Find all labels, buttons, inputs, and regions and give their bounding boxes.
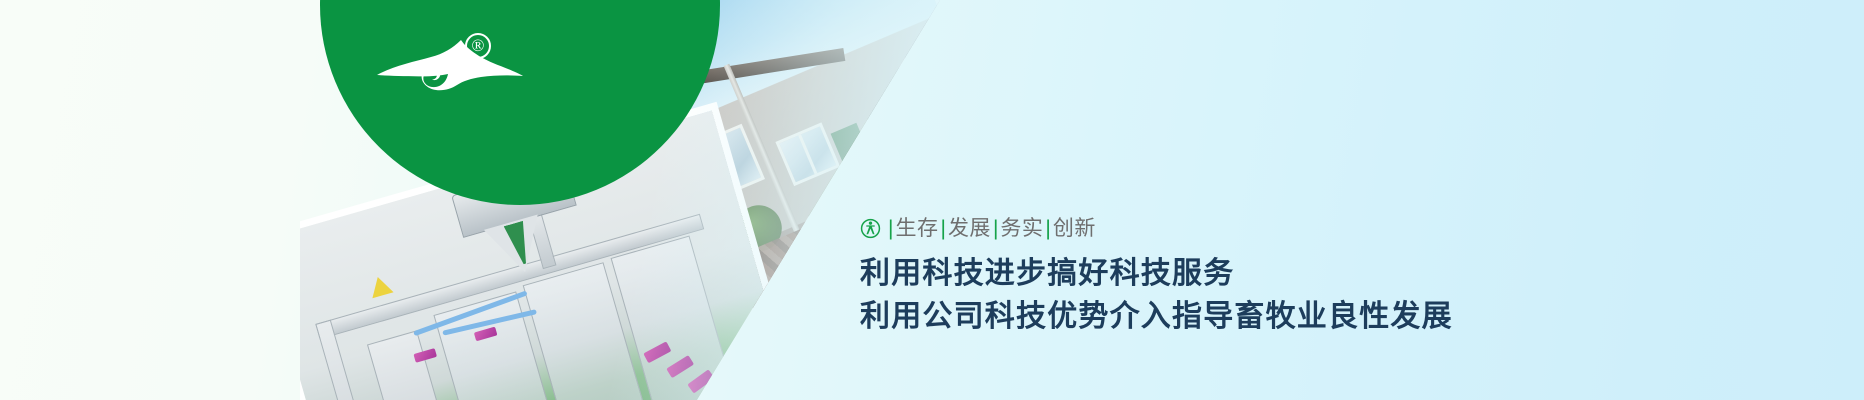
tagline-separator: | xyxy=(886,218,895,239)
tagline-word-1: 生存 xyxy=(895,218,938,239)
green-person-circle-icon xyxy=(860,218,881,239)
registered-trademark-icon: ® xyxy=(465,33,491,59)
tagline-separator: | xyxy=(991,218,1000,239)
wave-bird-logo-icon xyxy=(375,35,525,105)
tagline-word-2: 发展 xyxy=(948,218,991,239)
logo-disc-clip: ® xyxy=(320,0,720,205)
tagline: | 生存 | 发展 | 务实 | 创新 xyxy=(860,218,1453,239)
hero-banner: ® | 生存 | 发展 | 务实 | 创新 利用科技进步搞好科技服务 利用公司科… xyxy=(0,0,1864,400)
tagline-word-4: 创新 xyxy=(1053,218,1096,239)
headline-line-2: 利用公司科技优势介入指导畜牧业良性发展 xyxy=(860,296,1453,339)
tagline-word-3: 务实 xyxy=(1000,218,1043,239)
banner-text-block: | 生存 | 发展 | 务实 | 创新 利用科技进步搞好科技服务 利用公司科技优… xyxy=(860,218,1453,338)
tagline-separator: | xyxy=(1043,218,1052,239)
tagline-separator: | xyxy=(938,218,947,239)
headline-line-1: 利用科技进步搞好科技服务 xyxy=(860,253,1453,296)
